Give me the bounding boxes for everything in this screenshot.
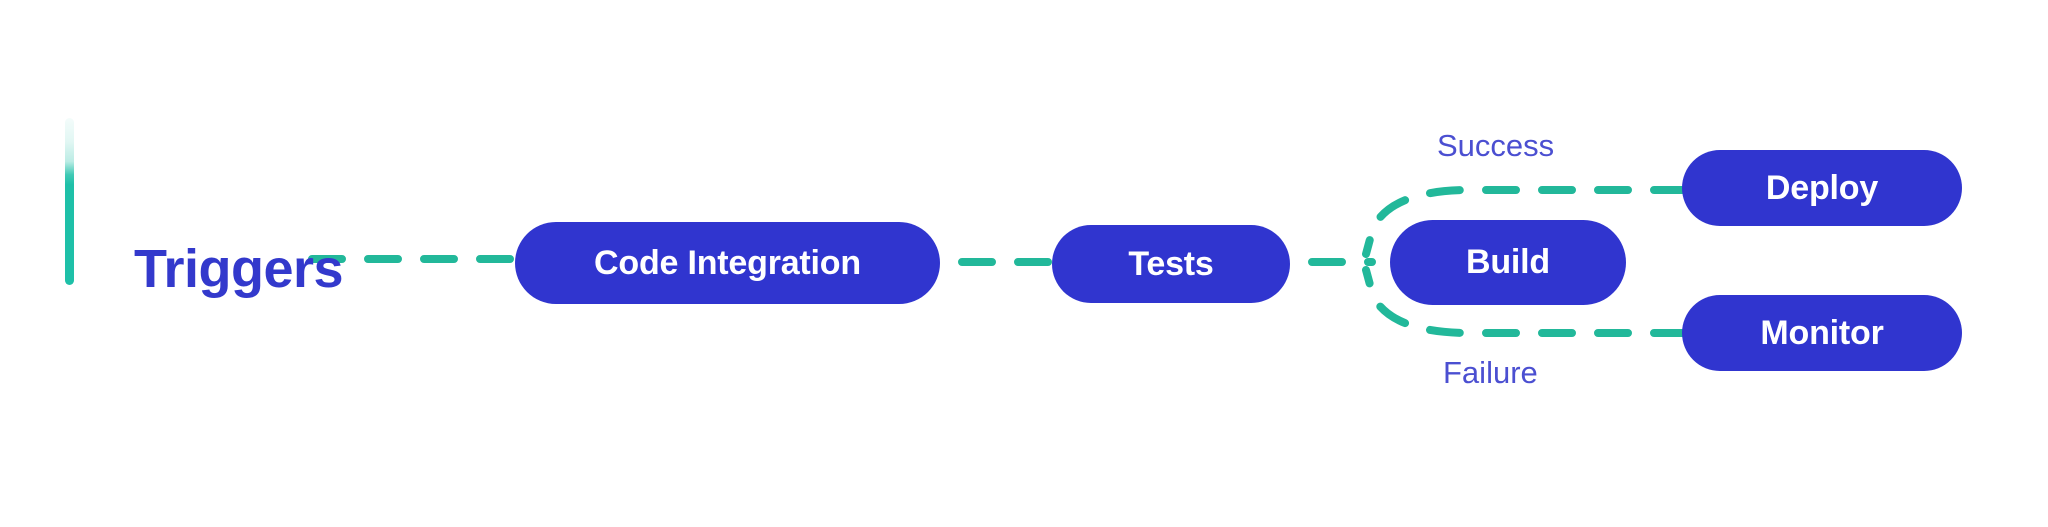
edge-label-success: Success [1437, 128, 1554, 164]
node-build[interactable] [1390, 220, 1626, 305]
edge-label-failure: Failure [1443, 355, 1538, 391]
diagram-canvas: Triggers Code Integration Tests Build De… [0, 0, 2048, 527]
node-code-integration[interactable] [515, 222, 940, 304]
node-deploy[interactable] [1682, 150, 1962, 226]
node-tests[interactable] [1052, 225, 1290, 303]
node-monitor[interactable] [1682, 295, 1962, 371]
triggers-accent-bar [65, 118, 74, 285]
page-title: Triggers [134, 238, 343, 300]
